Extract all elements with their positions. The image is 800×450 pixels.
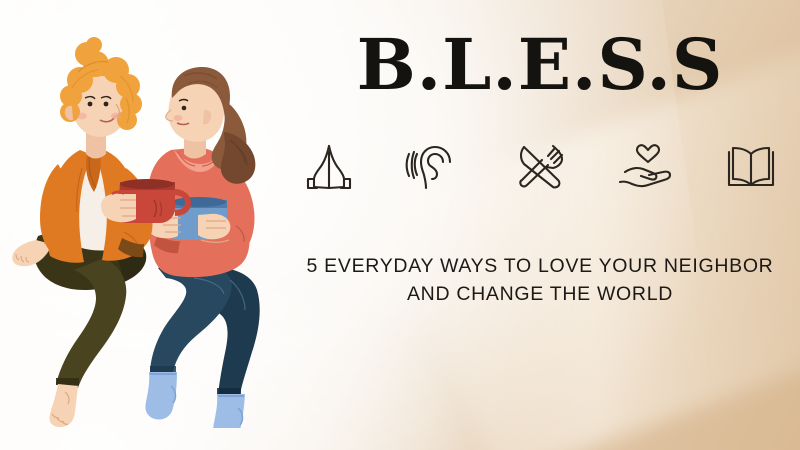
content-block: B.L.E.S.S xyxy=(290,0,790,450)
page-title: B.L.E.S.S xyxy=(290,30,790,100)
icon-row xyxy=(298,138,782,196)
praying-hands-icon xyxy=(298,138,360,196)
page-subtitle: 5 EVERYDAY WAYS TO LOVE YOUR NEIGHBOR AN… xyxy=(290,252,790,309)
two-women-illustration xyxy=(8,28,308,428)
subtitle-line-1: 5 EVERYDAY WAYS TO LOVE YOUR NEIGHBOR xyxy=(290,252,790,280)
subtitle-line-2: AND CHANGE THE WORLD xyxy=(290,280,790,308)
ear-listening-icon xyxy=(404,138,466,196)
fork-knife-icon xyxy=(509,138,571,196)
woman-right xyxy=(145,67,259,428)
hand-heart-icon xyxy=(615,138,677,196)
open-book-icon xyxy=(720,138,782,196)
slide-canvas: B.L.E.S.S xyxy=(0,0,800,450)
woman-right-near-leg xyxy=(150,263,232,372)
